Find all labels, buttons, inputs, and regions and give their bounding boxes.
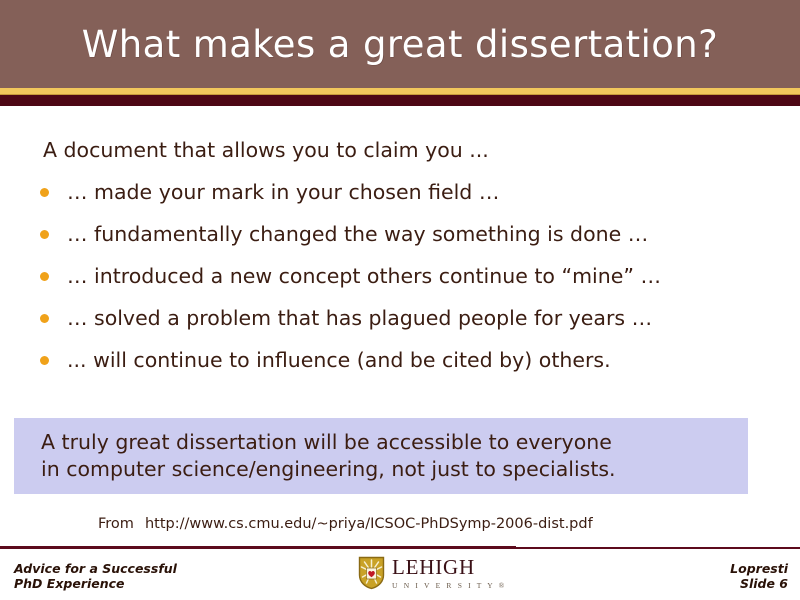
footer-author-slide: Lopresti Slide 6 [730,561,788,591]
bullet-item: … made your mark in your chosen field … [38,179,762,205]
bullet-item: … fundamentally changed the way somethin… [38,221,762,247]
footer-deck-title-line2: PhD Experience [14,576,177,591]
bullet-label: … fundamentally changed the way somethin… [67,221,648,247]
bullet-label: … introduced a new concept others contin… [67,263,661,289]
footer-divider-left [0,546,516,549]
lead-sentence: A document that allows you to claim you … [43,138,762,163]
source-url[interactable]: http://www.cs.cmu.edu/~priya/ICSOC-PhDSy… [145,516,593,532]
lehigh-subtitle: U N I V E R S I T Y ® [392,581,507,590]
slide-body: A document that allows you to claim you … [38,138,762,389]
slide-title: What makes a great dissertation? [0,0,800,88]
source-label: From [98,516,134,532]
title-maroon-rule [0,95,800,106]
lehigh-wordmark: LEHIGH U N I V E R S I T Y ® [392,557,507,590]
bullet-dot-icon [40,188,49,197]
lehigh-logo: LEHIGH U N I V E R S I T Y ® [358,556,507,590]
bullet-dot-icon [40,356,49,365]
callout-highlight-box: A truly great dissertation will be acces… [14,418,748,494]
lehigh-name: LEHIGH [392,557,507,578]
bullet-label: … made your mark in your chosen field … [67,179,499,205]
bullet-dot-icon [40,314,49,323]
presentation-slide: What makes a great dissertation? A docum… [0,0,800,600]
footer-deck-title-line1: Advice for a Successful [14,561,177,576]
callout-line-1: A truly great dissertation will be acces… [41,429,748,456]
footer-slide-number: Slide 6 [730,576,788,591]
bullet-item: … introduced a new concept others contin… [38,263,762,289]
footer-author: Lopresti [730,561,788,576]
callout-line-2: in computer science/engineering, not jus… [41,456,748,483]
bullet-label: ... will continue to influence (and be c… [67,347,611,373]
bullet-dot-icon [40,272,49,281]
lehigh-shield-crest-icon [358,556,385,590]
bullet-dot-icon [40,230,49,239]
bullet-item: … solved a problem that has plagued peop… [38,305,762,331]
footer-deck-title: Advice for a Successful PhD Experience [14,561,177,591]
bullet-item: ... will continue to influence (and be c… [38,347,762,373]
bullet-label: … solved a problem that has plagued peop… [67,305,652,331]
source-attribution: Fromhttp://www.cs.cmu.edu/~priya/ICSOC-P… [98,516,593,532]
footer-divider-right [516,547,800,549]
slide-title-banner: What makes a great dissertation? [0,0,800,88]
